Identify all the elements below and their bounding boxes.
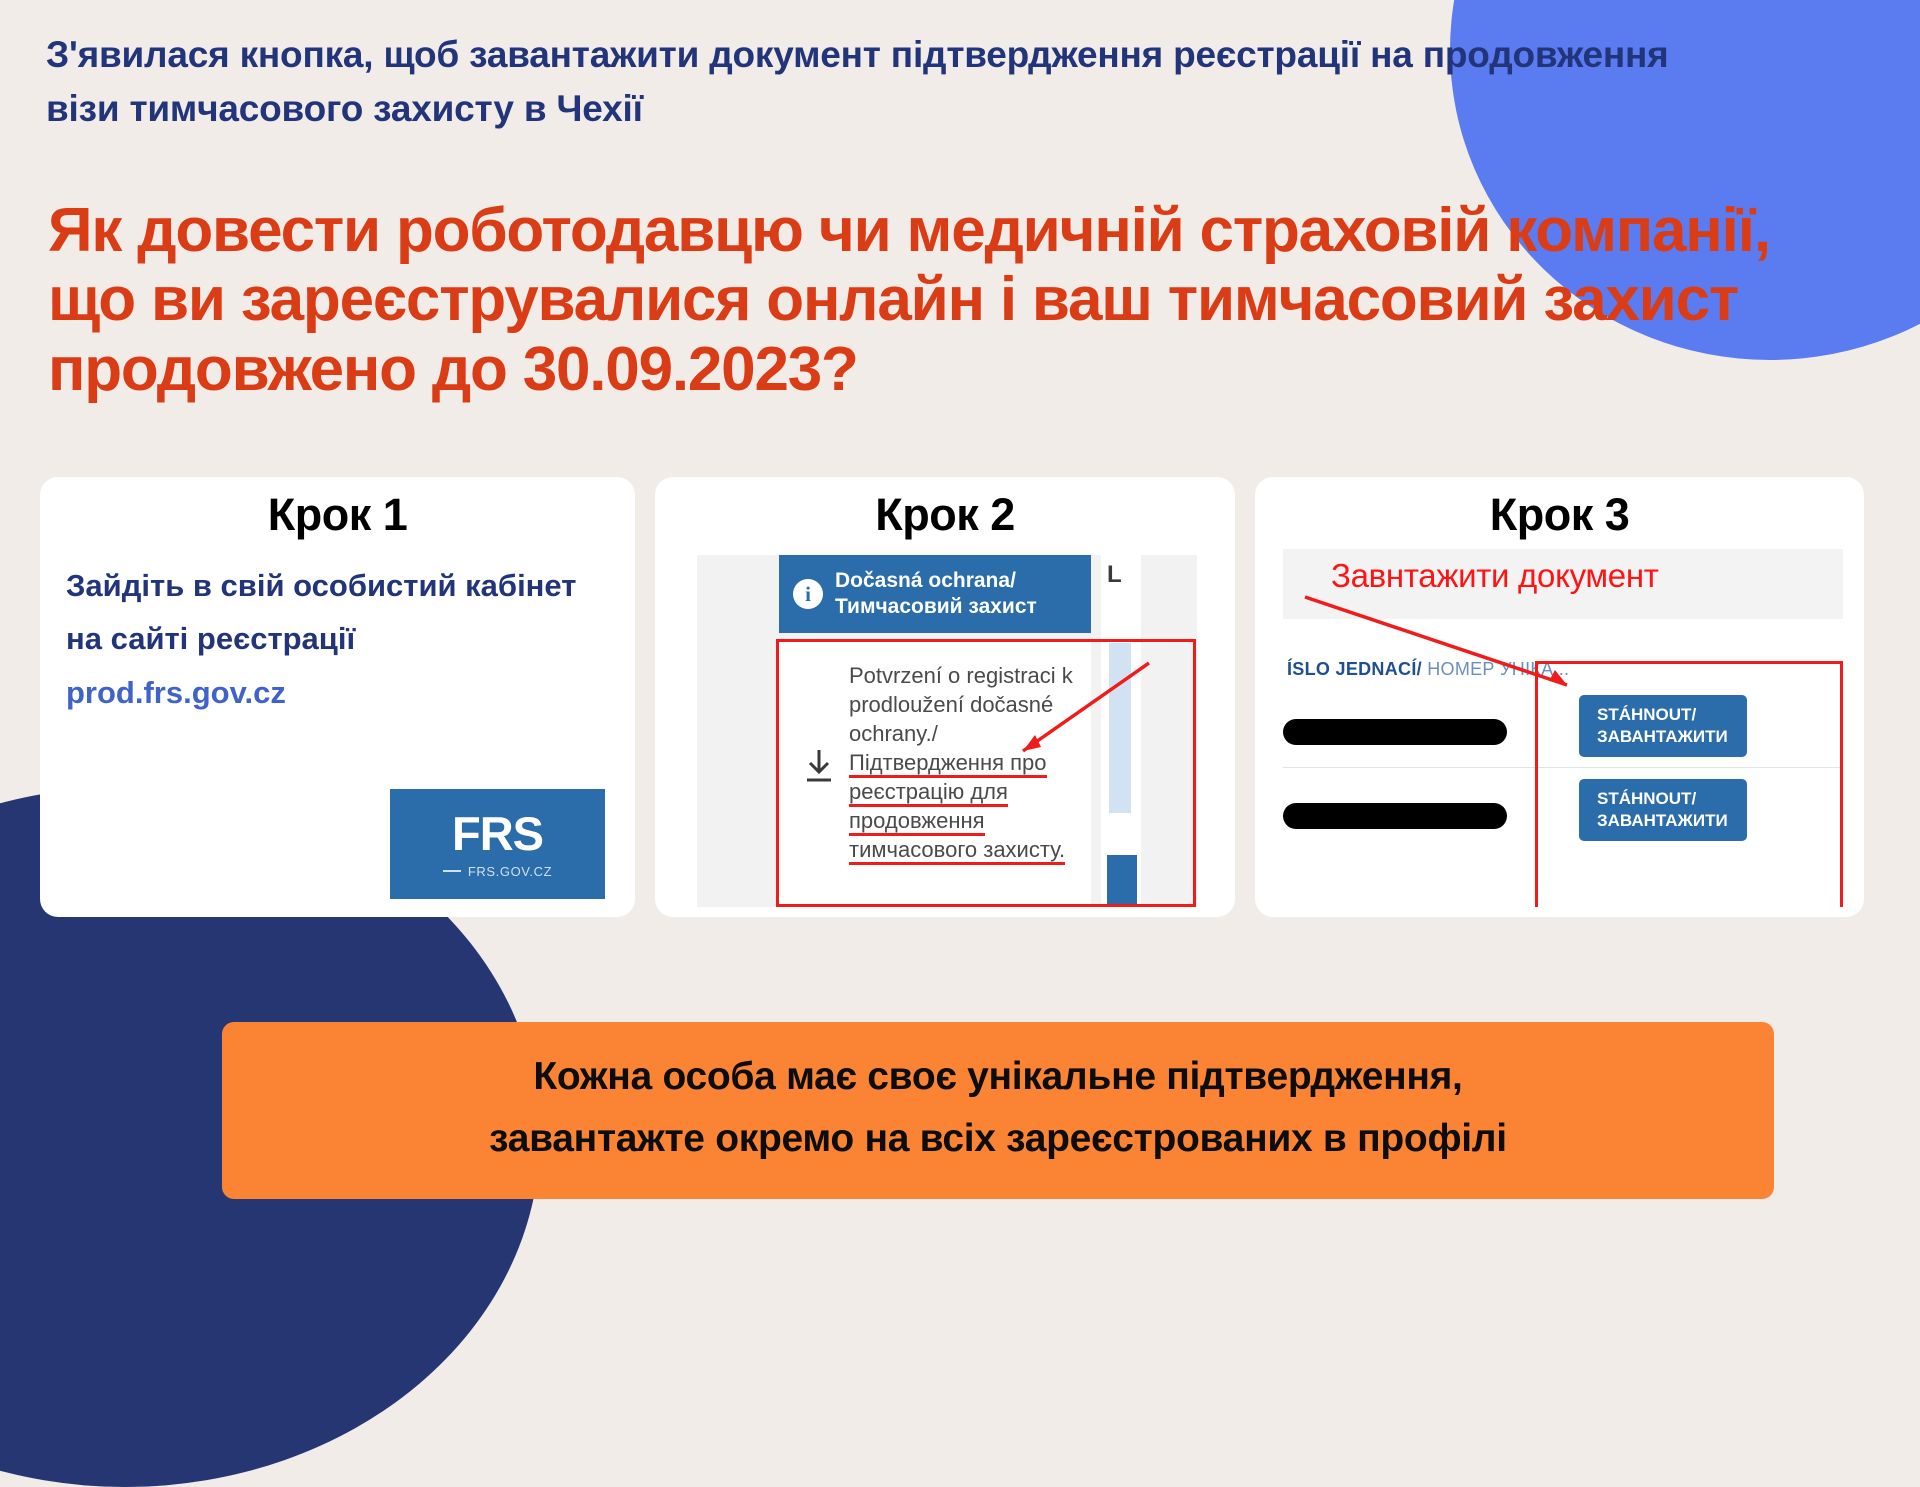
step-2-title: Крок 2 (655, 489, 1235, 541)
document-label-text: Potvrzení o registraci k prodloužení doč… (849, 661, 1089, 864)
step-1-instruction: Зайдіть в свій особистий кабінет на сайт… (66, 559, 609, 666)
frs-logo-subtext: FRS.GOV.CZ (443, 864, 552, 879)
step-card-2: Крок 2 L i Dočasná ochrana/ Тимчасовий з… (655, 477, 1235, 917)
download-icon[interactable] (802, 747, 836, 785)
step-3-title: Крок 3 (1255, 489, 1864, 541)
step-1-title: Крок 1 (40, 489, 635, 541)
temporary-protection-banner: i Dočasná ochrana/ Тимчасовий захист (779, 555, 1091, 633)
subheading: З'явилася кнопка, щоб завантажити докуме… (46, 28, 1736, 135)
banner-line-ua: Тимчасовий захист (835, 595, 1037, 618)
doc-cz-line-1: Potvrzení o registraci k (849, 663, 1073, 688)
step-1-body: Зайдіть в свій особистий кабінет на сайт… (40, 541, 635, 719)
callout-line-2: завантажте окремо на всіх зареєстрованих… (262, 1108, 1734, 1170)
callout-line-1: Кожна особа має своє унікальне підтвердж… (262, 1046, 1734, 1108)
steps-container: Крок 1 Зайдіть в свій особистий кабінет … (40, 477, 1884, 917)
step-card-3: Крок 3 Завнтажити документ ÍSLO JEDNACÍ/… (1255, 477, 1864, 917)
frs-logo-domain: FRS.GOV.CZ (468, 864, 552, 879)
page-title: Як довести роботодавцю чи медичній страх… (48, 196, 1848, 404)
step-3-screenshot: Завнтажити документ ÍSLO JEDNACÍ/ НОМЕР … (1283, 549, 1843, 907)
banner-text: Dočasná ochrana/ Тимчасовий захист (835, 568, 1037, 620)
callout-banner: Кожна особа має своє унікальне підтвердж… (222, 1022, 1774, 1199)
table-column-header: ÍSLO JEDNACÍ/ НОМЕР УНІКА... (1287, 659, 1569, 680)
redacted-value-1 (1283, 719, 1507, 745)
screenshot-right-label: L (1107, 561, 1122, 589)
red-highlight-box (1535, 661, 1843, 907)
banner-line-cz: Dočasná ochrana/ (835, 569, 1016, 592)
dash-icon (443, 870, 461, 872)
doc-cz-line-2: prodloužení dočasné (849, 692, 1053, 717)
doc-ua-underlined[interactable]: Підтвердження про реєстрацію для продовж… (849, 750, 1065, 865)
step-2-screenshot: L i Dočasná ochrana/ Тимчасовий захист P… (697, 555, 1197, 907)
column-header-cz: ÍSLO JEDNACÍ/ (1287, 659, 1422, 679)
info-icon: i (793, 579, 823, 609)
frs-logo-wordmark: FRS (452, 810, 543, 857)
step-1-url[interactable]: prod.frs.gov.cz (66, 666, 609, 719)
frs-logo: FRS FRS.GOV.CZ (390, 789, 605, 899)
download-document-annotation: Завнтажити документ (1331, 557, 1659, 595)
redacted-value-2 (1283, 803, 1507, 829)
doc-cz-line-3: ochrany./ (849, 721, 938, 746)
step-card-1: Крок 1 Зайдіть в свій особистий кабінет … (40, 477, 635, 917)
